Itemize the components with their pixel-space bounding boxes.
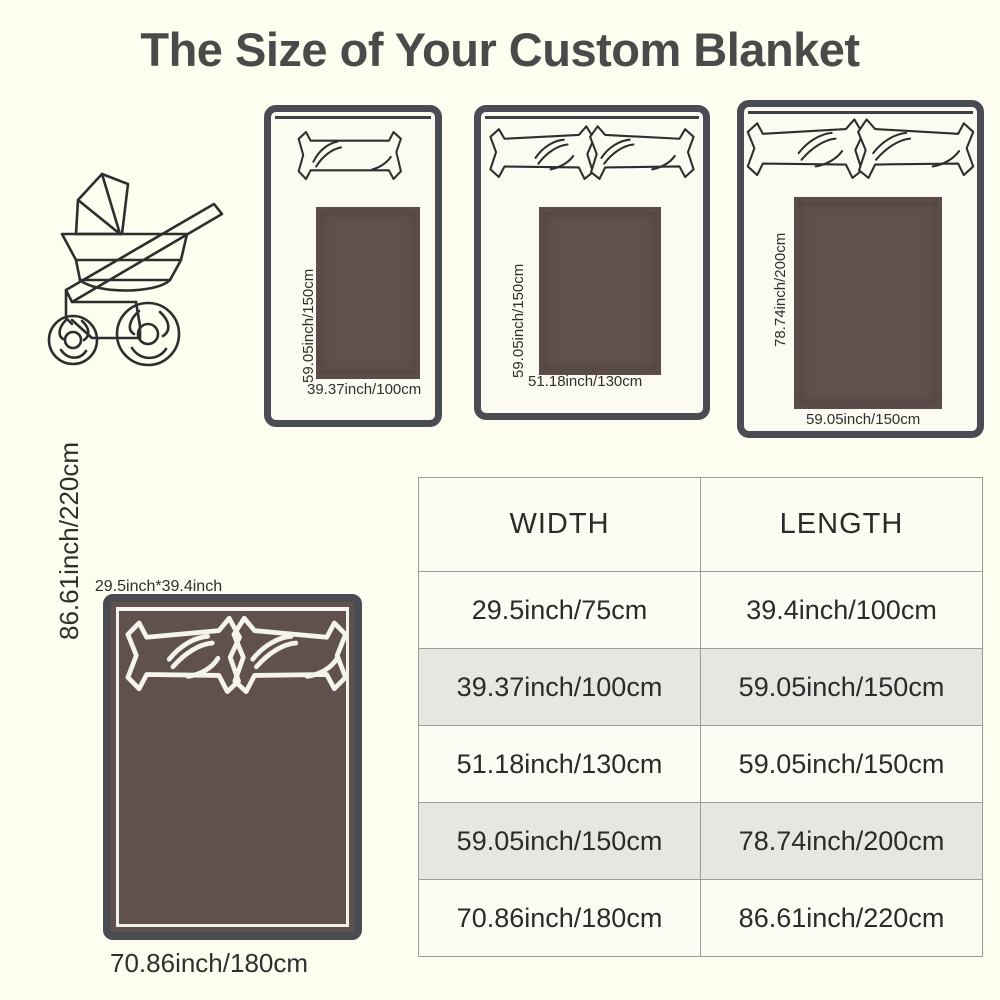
cell-width: 39.37inch/100cm [419,649,701,726]
stroller-illustration: 29.5inch*39.4inch [36,168,246,430]
table-row: 70.86inch/180cm86.61inch/220cm [419,880,983,957]
table-row: 39.37inch/100cm59.05inch/150cm [419,649,983,726]
bed-4-length-label: 86.61inch/220cm [54,442,85,640]
infographic-canvas: The Size of Your Custom Blanket [0,0,1000,1000]
bed-diagram-4 [103,594,362,940]
bed-2-length-label: 59.05inch/150cm [510,264,527,378]
bed-4-width-label: 70.86inch/180cm [110,948,308,979]
column-header-width: WIDTH [419,478,701,572]
cell-width: 29.5inch/75cm [419,572,701,649]
size-table: WIDTH LENGTH 29.5inch/75cm39.4inch/100cm… [418,477,983,957]
cell-length: 39.4inch/100cm [701,572,983,649]
cell-length: 59.05inch/150cm [701,726,983,803]
table-row: 29.5inch/75cm39.4inch/100cm [419,572,983,649]
bed-3-length-label: 78.74inch/200cm [772,233,789,347]
cell-width: 51.18inch/130cm [419,726,701,803]
cell-width: 59.05inch/150cm [419,803,701,880]
cell-width: 70.86inch/180cm [419,880,701,957]
column-header-length: LENGTH [701,478,983,572]
bed-1-width-label: 39.37inch/100cm [307,381,421,398]
blanket-swatch [794,197,942,409]
cell-length: 59.05inch/150cm [701,649,983,726]
table-header-row: WIDTH LENGTH [419,478,983,572]
bed-3-width-label: 59.05inch/150cm [806,411,920,428]
bed-2-width-label: 51.18inch/130cm [528,373,642,390]
cell-length: 86.61inch/220cm [701,880,983,957]
bed-diagram-1 [264,105,442,427]
baby-stroller-icon [36,168,236,378]
pillow-icon [111,602,354,932]
cell-length: 78.74inch/200cm [701,803,983,880]
bed-1-length-label: 59.05inch/150cm [300,269,317,383]
blanket-swatch [316,207,420,379]
page-title: The Size of Your Custom Blanket [0,22,1000,77]
table-row: 51.18inch/130cm59.05inch/150cm [419,726,983,803]
blanket-swatch [539,207,661,375]
table-row: 59.05inch/150cm78.74inch/200cm [419,803,983,880]
